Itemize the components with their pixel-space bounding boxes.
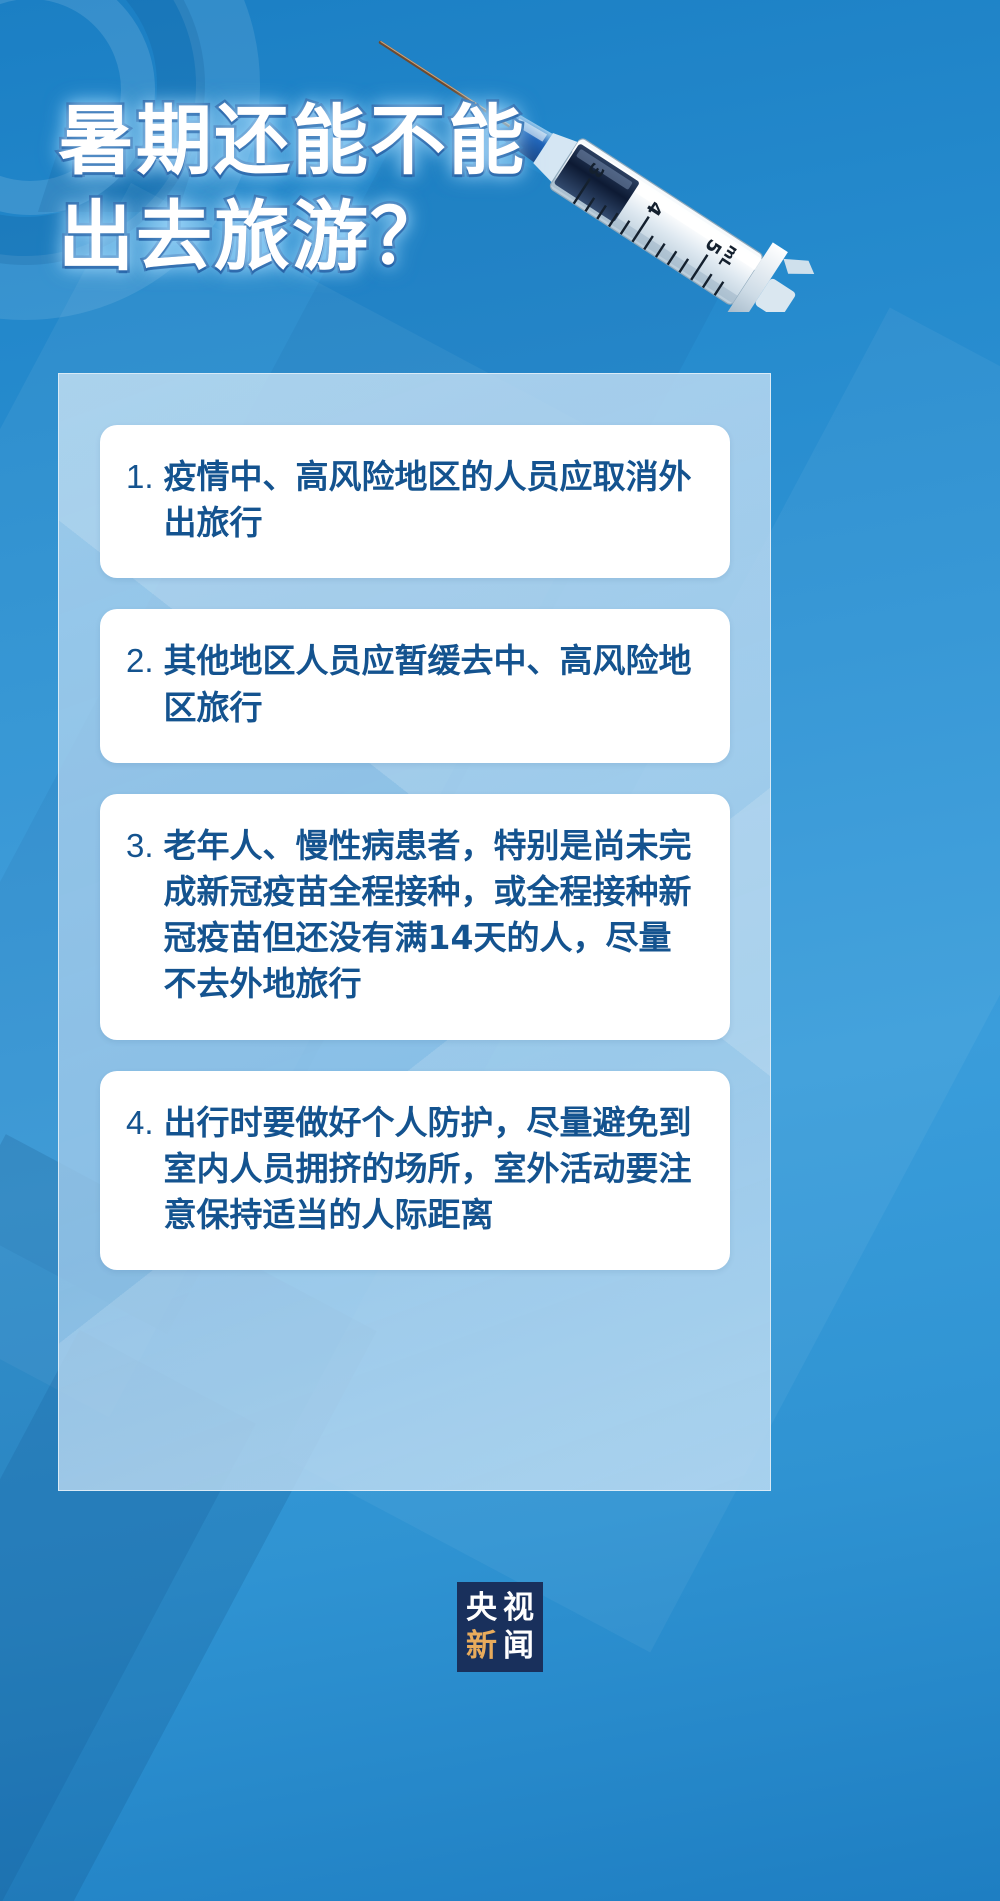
list-item: 1. 疫情中、高风险地区的人员应取消外出旅行 [100,425,730,578]
card-text: 出行时要做好个人防护，尽量避免到室内人员拥挤的场所，室外活动要注意保持适当的人际… [164,1100,704,1239]
syringe-scale-ml: mL [715,242,741,270]
headline-line-2: 出去旅游？ [58,192,678,282]
logo-char-2: 视 [503,1593,534,1624]
card-number: 3. [126,823,154,869]
logo-char-1: 央 [466,1593,497,1624]
card-text: 老年人、慢性病患者，特别是尚未完成新冠疫苗全程接种，或全程接种新冠疫苗但还没有满… [164,823,704,1008]
card-number: 2. [126,638,154,684]
list-item: 4. 出行时要做好个人防护，尽量避免到室内人员拥挤的场所，室外活动要注意保持适当… [100,1071,730,1271]
card-number: 4. [126,1100,154,1146]
card-text: 其他地区人员应暂缓去中、高风险地区旅行 [164,638,704,730]
syringe-scale-5: 5 [700,235,726,258]
card-number: 1. [126,454,154,500]
headline-line-1: 暑期还能不能 [58,96,678,186]
list-item: 2. 其他地区人员应暂缓去中、高风险地区旅行 [100,609,730,762]
list-item: 3. 老年人、慢性病患者，特别是尚未完成新冠疫苗全程接种，或全程接种新冠疫苗但还… [100,794,730,1040]
card-text: 疫情中、高风险地区的人员应取消外出旅行 [164,454,704,546]
logo-char-3: 新 [466,1631,497,1662]
poster-headline: 暑期还能不能 出去旅游？ [58,96,678,281]
logo-char-4: 闻 [503,1631,534,1662]
cctv-news-logo: 央 视 新 闻 [457,1582,543,1672]
advice-card-list: 1. 疫情中、高风险地区的人员应取消外出旅行 2. 其他地区人员应暂缓去中、高风… [100,425,730,1270]
poster-root: 3 4 5 mL 暑期还能不能 出去旅游？ 1. 疫情中、高风险地区的人员应取消… [0,0,1000,1901]
